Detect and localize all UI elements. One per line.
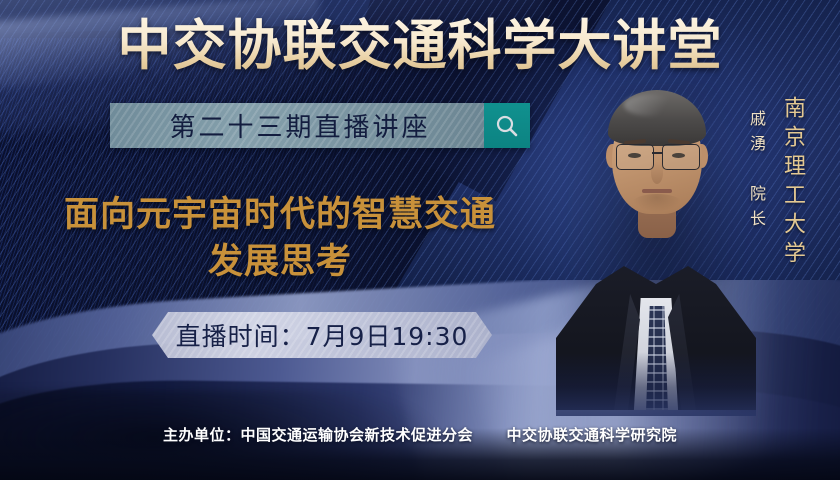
lecture-title: 面向元宇宙时代的智慧交通 发展思考	[30, 192, 530, 286]
glasses-lens-left	[616, 144, 654, 170]
speaker-organization: 南京理工大学	[776, 96, 808, 270]
speaker-portrait	[556, 74, 756, 410]
search-icon	[494, 113, 520, 139]
portrait-mouth	[642, 189, 672, 193]
glasses-bridge	[652, 152, 662, 154]
broadcast-time-label: 直播时间：7月9日19:30	[176, 317, 469, 353]
session-label: 第二十三期直播讲座	[163, 107, 430, 144]
footer-organizers: 主办单位：中国交通运输协会新技术促进分会 中交协联交通科学研究院	[0, 424, 840, 445]
session-bar-body: 第二十三期直播讲座	[110, 103, 484, 148]
webinar-poster: 中交协联交通科学大讲堂 第二十三期直播讲座 面向元宇宙时代的智慧交通 发展思考 …	[0, 0, 840, 480]
lecture-title-line2: 发展思考	[30, 239, 530, 286]
portrait-bottom-fade	[556, 352, 756, 416]
session-bar: 第二十三期直播讲座	[110, 103, 530, 148]
portrait-chin-shadow	[632, 194, 682, 212]
lecture-title-line1: 面向元宇宙时代的智慧交通	[64, 195, 496, 235]
footer-organizer-primary: 主办单位：中国交通运输协会新技术促进分会	[163, 426, 473, 444]
portrait-hair-highlight	[624, 94, 676, 116]
broadcast-time-badge: 直播时间：7月9日19:30	[152, 312, 492, 358]
glasses-lens-right	[662, 144, 700, 170]
portrait-nose	[651, 162, 663, 184]
main-title: 中交协联交通科学大讲堂	[0, 16, 840, 76]
search-button[interactable]	[484, 103, 530, 148]
footer-organizer-secondary: 中交协联交通科学研究院	[506, 426, 677, 444]
speaker-name-title: 戚湧 院长	[744, 110, 768, 235]
